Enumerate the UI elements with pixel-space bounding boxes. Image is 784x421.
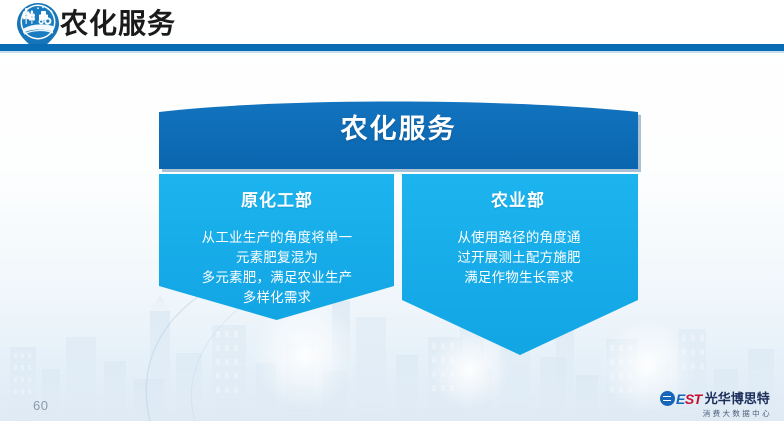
brand-name-en-e: E	[676, 391, 685, 407]
brand-name-cn: 光华博思特	[705, 391, 770, 407]
slide: 农化服务 农化服务	[0, 0, 784, 421]
header-divider-shadow	[0, 51, 784, 53]
best-circle-logo-icon	[660, 391, 675, 406]
brand-name-en: EST	[676, 391, 702, 407]
slide-header: 农化服务	[0, 0, 784, 52]
header-divider-rule	[0, 44, 784, 51]
page-number: 60	[33, 398, 48, 413]
page-title: 农化服务	[60, 6, 176, 42]
background-glow-center	[430, 330, 510, 410]
agro-service-diagram	[0, 0, 784, 421]
brand-name-en-st: ST	[685, 391, 702, 407]
brand-logo-row: EST 光华博思特	[660, 390, 772, 407]
brand-subtitle: 消费大数据中心	[660, 408, 772, 419]
card-right-body: 从使用路径的角度通过开展测土配方施肥满足作物生长需求	[412, 228, 626, 288]
card-left-body: 从工业生产的角度将单一元素肥复混为多元素肥，满足农业生产多样化需求	[170, 228, 384, 308]
brand-logo: EST 光华博思特 消费大数据中心	[660, 390, 772, 418]
card-right-title: 农业部	[404, 190, 632, 212]
card-left-title: 原化工部	[163, 190, 391, 212]
background-glow-left	[250, 300, 360, 410]
banner-label-text: 农化服务	[159, 112, 638, 146]
